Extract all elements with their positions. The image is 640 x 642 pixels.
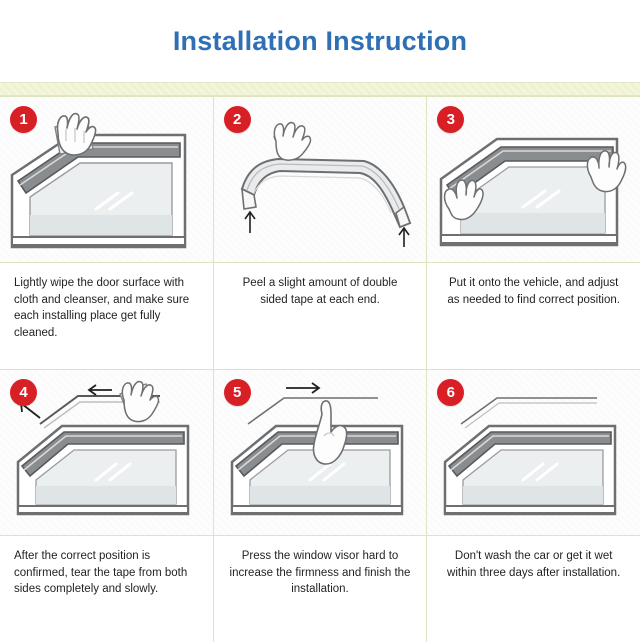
step-4-caption: After the correct position is confirmed,…	[0, 536, 213, 642]
step-5-badge: 5	[224, 379, 251, 406]
step-3-caption: Put it onto the vehicle, and adjust as n…	[427, 263, 640, 369]
step-5-illustration: 5	[214, 370, 427, 536]
step-4-badge: 4	[10, 379, 37, 406]
step-card-5: 5	[214, 370, 427, 642]
step-1-caption: Lightly wipe the door surface with cloth…	[0, 263, 213, 369]
step-2-illustration: 2	[214, 97, 427, 263]
step-card-3: 3	[427, 97, 640, 369]
header-stripe-divider	[0, 82, 640, 96]
step-card-6: 6	[427, 370, 640, 642]
steps-grid: 1	[0, 96, 640, 642]
page-title: Installation Instruction	[173, 26, 467, 57]
step-6-illustration: 6	[427, 370, 640, 536]
step-5-caption: Press the window visor hard to increase …	[214, 536, 427, 642]
step-1-illustration: 1	[0, 97, 213, 263]
instruction-sheet: Installation Instruction 1	[0, 0, 640, 640]
step-card-1: 1	[0, 97, 213, 369]
step-4-illustration: 4	[0, 370, 213, 536]
step-2-badge: 2	[224, 106, 251, 133]
step-2-caption: Peel a slight amount of double sided tap…	[214, 263, 427, 369]
step-card-4: 4	[0, 370, 213, 642]
page-header: Installation Instruction	[0, 0, 640, 82]
step-3-illustration: 3	[427, 97, 640, 263]
step-1-badge: 1	[10, 106, 37, 133]
step-6-caption: Don't wash the car or get it wet within …	[427, 536, 640, 642]
step-card-2: 2	[214, 97, 427, 369]
